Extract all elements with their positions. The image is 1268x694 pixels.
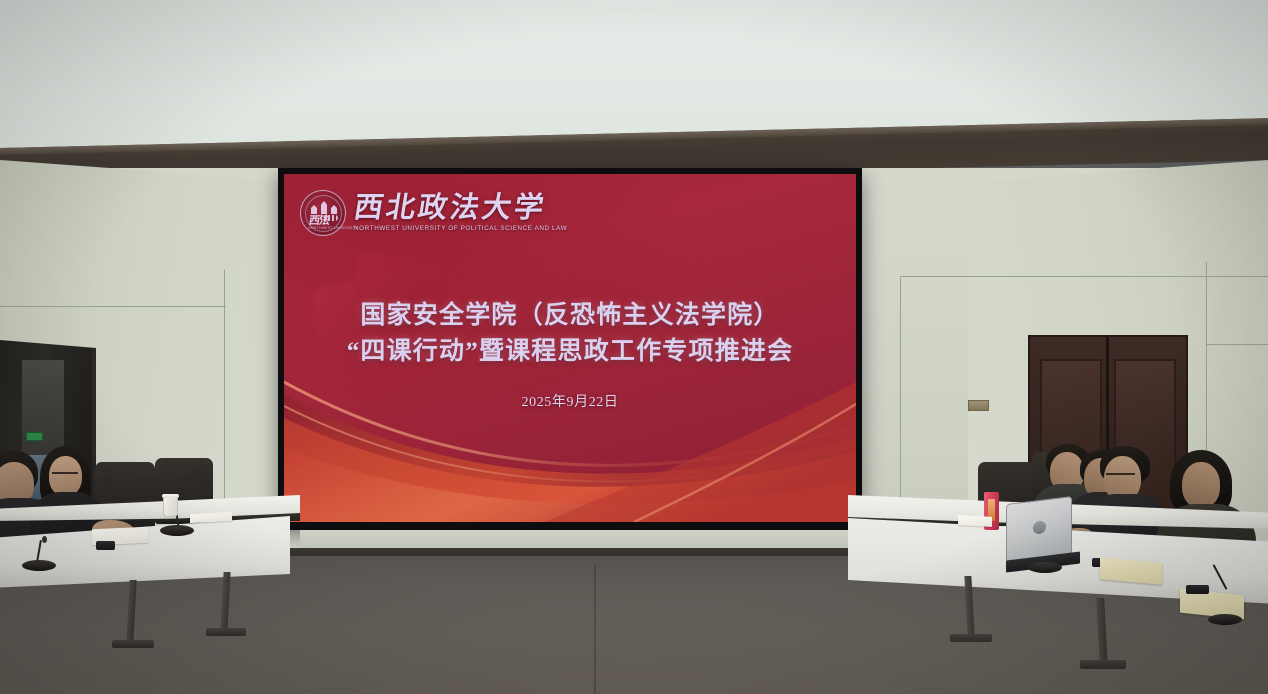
microphone-base[interactable]	[1028, 562, 1062, 573]
university-crest-icon: 西法 NORTHWEST UNIVERSITY	[300, 190, 346, 236]
presentation-screen[interactable]: 西法 NORTHWEST UNIVERSITY 西北政法大学 NORTHWEST…	[284, 174, 856, 522]
slide-title-line-2: “四课行动”暨课程思政工作专项推进会	[284, 334, 856, 370]
microphone-base[interactable]	[22, 560, 56, 571]
university-name-english: NORTHWEST UNIVERSITY OF POLITICAL SCIENC…	[354, 225, 567, 232]
university-name-chinese: 西北政法大学	[352, 194, 570, 224]
cup-lid	[162, 494, 179, 498]
phone[interactable]	[96, 541, 115, 550]
wall-panel-seam	[0, 306, 226, 307]
phone[interactable]	[1186, 585, 1209, 594]
paper-cup[interactable]	[163, 497, 178, 517]
microphone-head	[42, 536, 47, 543]
wall-plaque	[968, 400, 989, 411]
table-foot	[206, 628, 246, 636]
exit-sign-icon	[26, 432, 43, 441]
table-foot	[950, 634, 992, 642]
document-paper[interactable]	[958, 515, 992, 527]
laptop-logo-icon	[1033, 520, 1046, 535]
wall-panel-seam	[900, 276, 1268, 277]
slide-title-line-1: 国家安全学院（反恐怖主义法学院）	[284, 298, 856, 334]
wall-panel-seam	[224, 270, 225, 532]
table-foot	[112, 640, 154, 648]
wall-panel-seam	[1206, 344, 1268, 345]
floor-tile-seam	[594, 566, 596, 694]
crest-caption: NORTHWEST UNIVERSITY	[308, 226, 340, 230]
table-foot	[1080, 660, 1126, 669]
slide-title-block: 国家安全学院（反恐怖主义法学院） “四课行动”暨课程思政工作专项推进会 2025…	[284, 298, 856, 411]
university-logo: 西法 NORTHWEST UNIVERSITY 西北政法大学 NORTHWEST…	[300, 190, 567, 236]
slide-date: 2025年9月22日	[284, 391, 856, 411]
microphone-base[interactable]	[1208, 614, 1242, 625]
conference-room-scene: 西法 NORTHWEST UNIVERSITY 西北政法大学 NORTHWEST…	[0, 0, 1268, 694]
